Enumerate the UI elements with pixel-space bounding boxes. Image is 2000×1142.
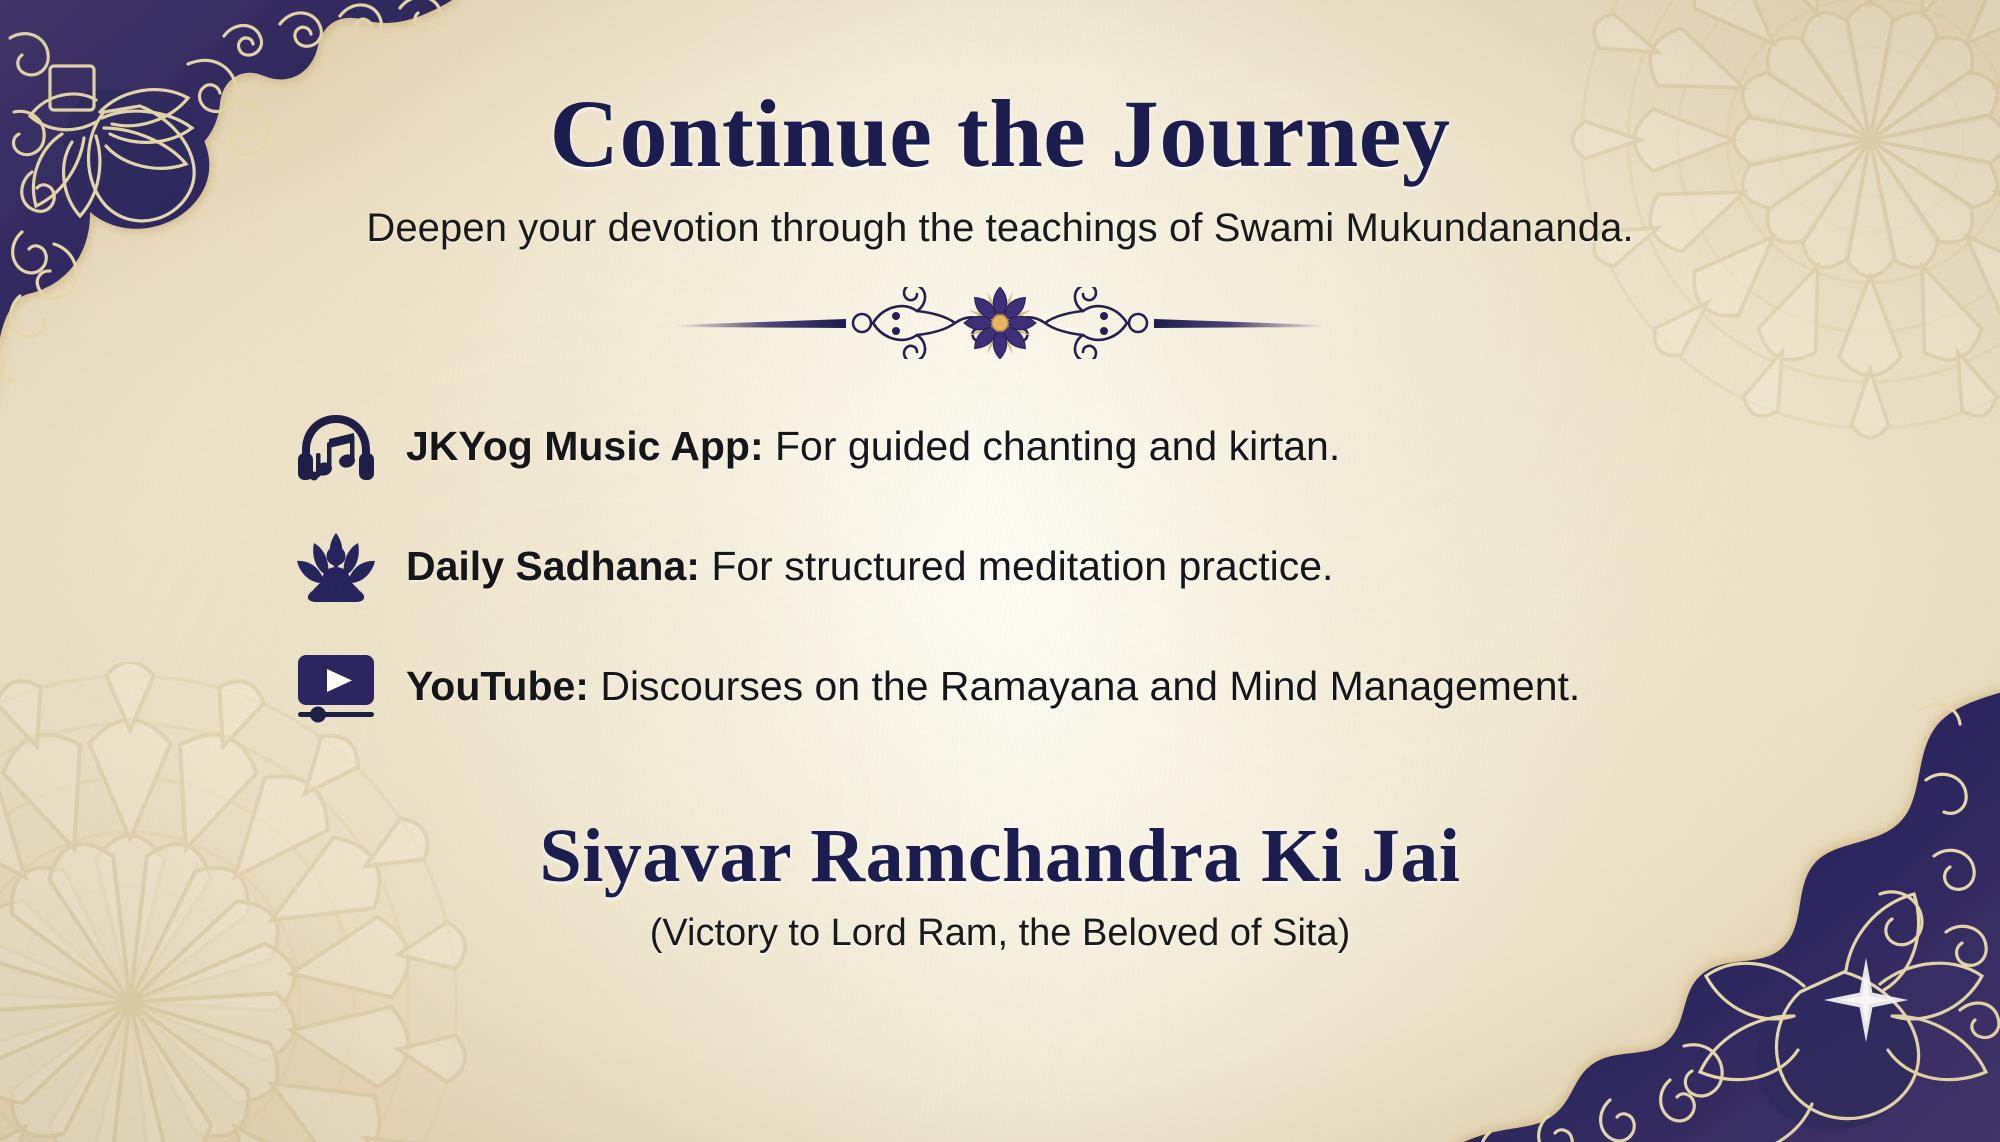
video-play-icon xyxy=(292,647,380,727)
list-item[interactable]: JKYog Music App: For guided chanting and… xyxy=(292,407,1580,487)
resource-list: JKYog Music App: For guided chanting and… xyxy=(292,407,1580,727)
meditation-lotus-icon xyxy=(292,527,380,607)
list-item-text: JKYog Music App: For guided chanting and… xyxy=(406,423,1340,470)
page-title: Continue the Journey xyxy=(550,84,1451,184)
closing-translation: (Victory to Lord Ram, the Beloved of Sit… xyxy=(650,912,1351,955)
list-item[interactable]: Daily Sadhana: For structured meditation… xyxy=(292,527,1580,607)
closing-heading: Siyavar Ramchandra Ki Jai xyxy=(539,813,1460,900)
list-item-detail: Discourses on the Ramayana and Mind Mana… xyxy=(589,663,1580,709)
list-item-lead: Daily Sadhana: xyxy=(406,543,700,589)
slide-canvas: Continue the Journey Deepen your devotio… xyxy=(0,0,2000,1142)
list-item-lead: YouTube: xyxy=(406,663,589,709)
headphones-music-icon xyxy=(292,407,380,487)
slide-content: Continue the Journey Deepen your devotio… xyxy=(0,0,2000,1142)
list-item-text: Daily Sadhana: For structured meditation… xyxy=(406,543,1333,590)
list-item-lead: JKYog Music App: xyxy=(406,423,764,469)
page-subtitle: Deepen your devotion through the teachin… xyxy=(366,206,1633,251)
floral-ornament-divider xyxy=(670,287,1330,359)
list-item-detail: For structured meditation practice. xyxy=(700,543,1333,589)
list-item[interactable]: YouTube: Discourses on the Ramayana and … xyxy=(292,647,1580,727)
list-item-detail: For guided chanting and kirtan. xyxy=(764,423,1341,469)
list-item-text: YouTube: Discourses on the Ramayana and … xyxy=(406,663,1580,710)
